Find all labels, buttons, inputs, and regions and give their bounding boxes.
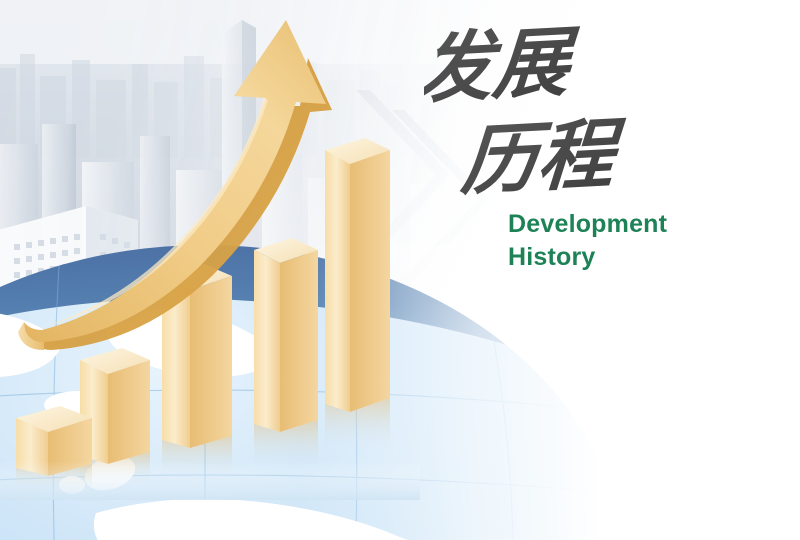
subtitle-english: Development History	[508, 208, 667, 274]
growth-arrow-icon	[0, 0, 400, 380]
svg-text:发展: 发展	[424, 22, 581, 114]
poster-canvas: 发展 历程 Development History	[0, 0, 800, 540]
svg-text:历程: 历程	[458, 109, 627, 206]
calligraphy-title: 发展 历程	[424, 22, 694, 207]
title-block: 发展 历程 Development History	[424, 22, 724, 282]
